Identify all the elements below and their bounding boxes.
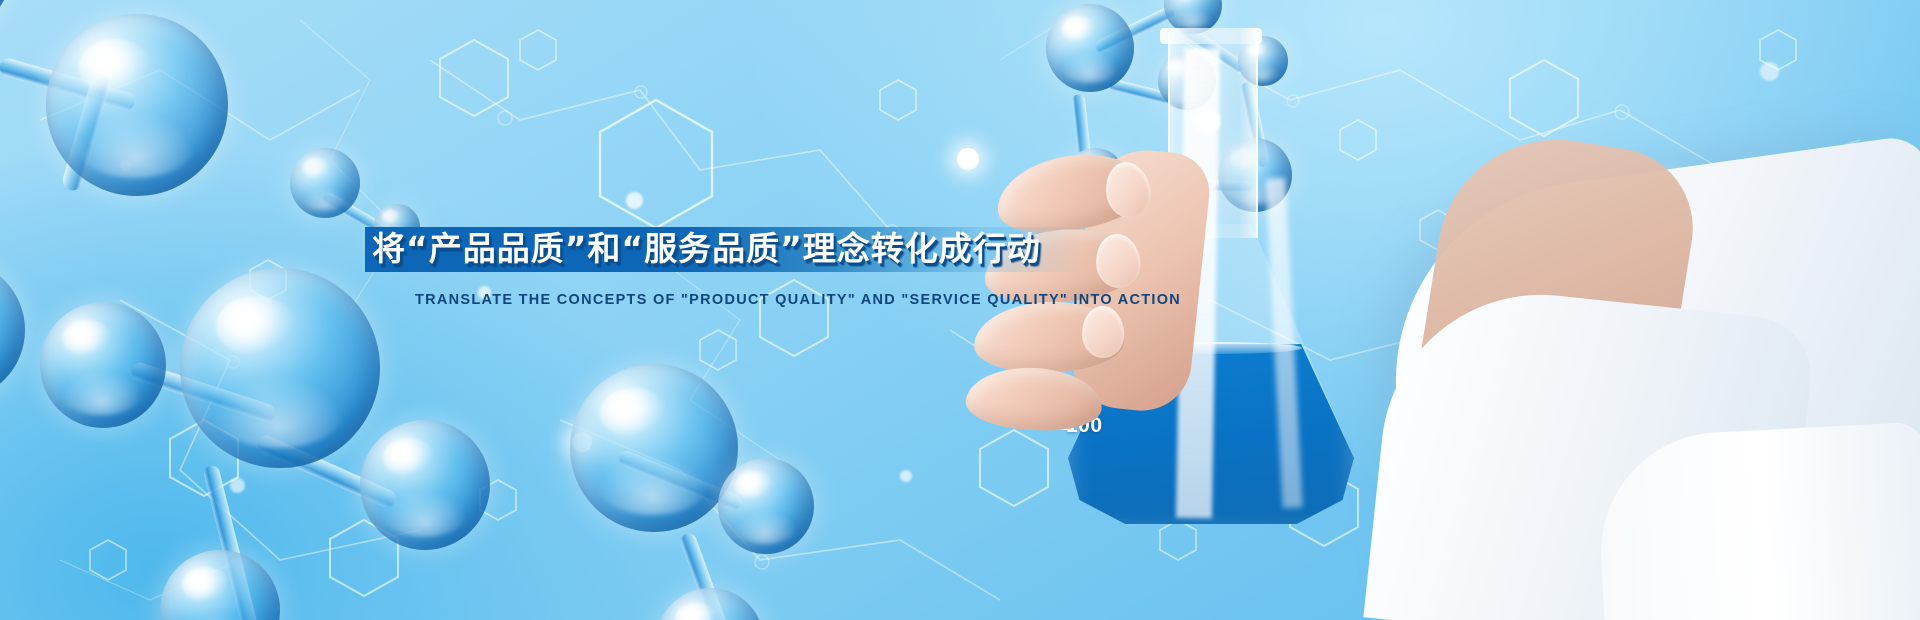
page-title: 将“产品品质”和“服务品质”理念转化成行动 <box>372 226 1041 272</box>
banner-text: 将“产品品质”和“服务品质”理念转化成行动 TRANSLATE THE CONC… <box>0 0 1920 620</box>
page-subtitle: TRANSLATE THE CONCEPTS OF "PRODUCT QUALI… <box>415 291 1181 308</box>
hero-banner: 250 APPROX 200 150 100 将“产品品质”和“服务品质”理念 <box>0 0 1920 620</box>
